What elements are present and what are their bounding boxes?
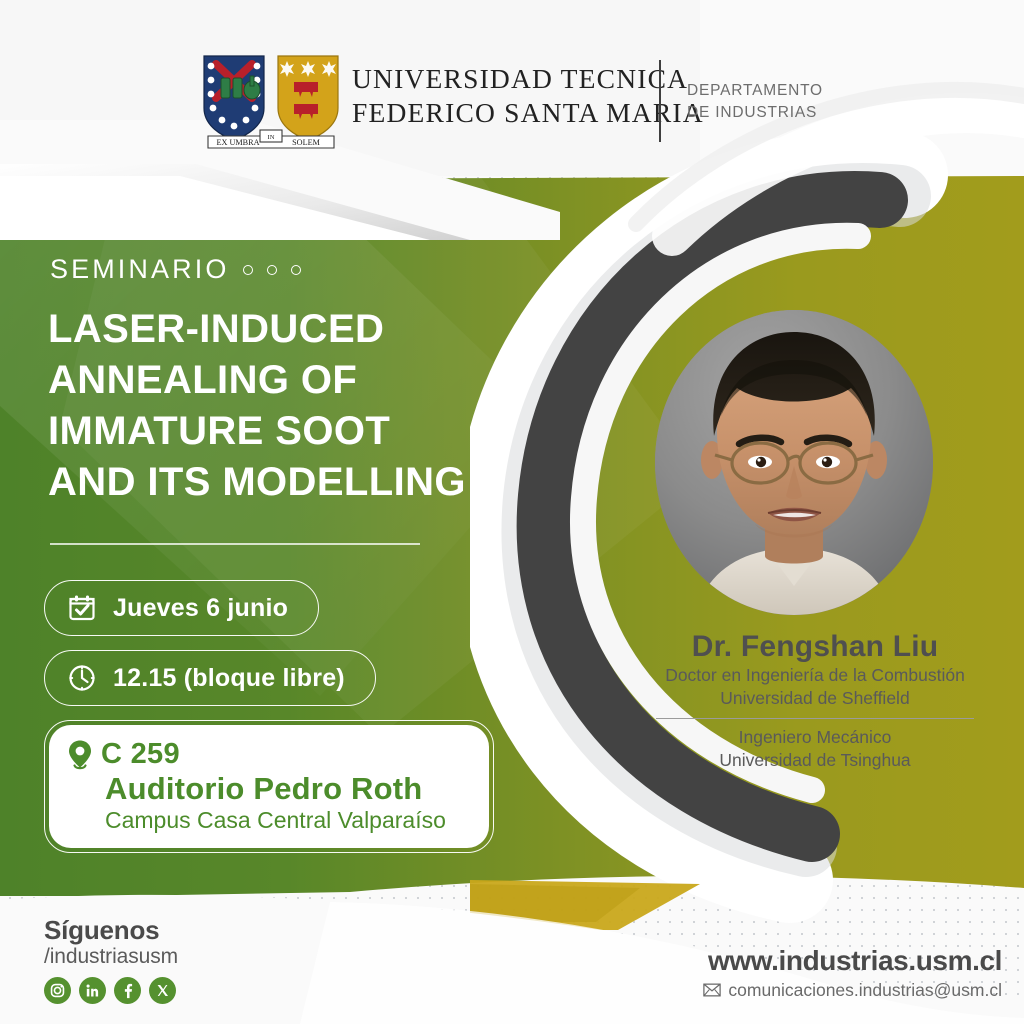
event-date-pill: Jueves 6 junio bbox=[44, 580, 319, 636]
social-handle: /industriasusm bbox=[44, 944, 178, 970]
email-address: comunicaciones.industrias@usm.cl bbox=[728, 978, 1002, 1002]
follow-us-title: Síguenos bbox=[44, 916, 178, 944]
instagram-icon[interactable] bbox=[44, 977, 71, 1004]
speaker-divider bbox=[656, 718, 974, 719]
usm-coat-of-arms-icon: EX UMBRA IN SOLEM bbox=[198, 52, 344, 150]
event-room-number: C 259 bbox=[101, 739, 180, 770]
seminar-kicker: SEMINARIO bbox=[50, 254, 301, 285]
university-name-line2: FEDERICO SANTA MARIA bbox=[352, 96, 704, 130]
header-divider bbox=[659, 60, 661, 142]
event-date-text: Jueves 6 junio bbox=[113, 594, 288, 623]
university-name-line1: UNIVERSIDAD TECNICA bbox=[352, 62, 704, 96]
seminar-title-line2: ANNEALING OF bbox=[48, 355, 518, 406]
website-url[interactable]: www.industrias.usm.cl bbox=[703, 944, 1002, 978]
department-line2: DE INDUSTRIAS bbox=[687, 102, 823, 124]
speaker-degree2-line2: Universidad de Tsinghua bbox=[620, 749, 1010, 772]
seminar-poster: EX UMBRA IN SOLEM UNIVERSIDAD TECNICA FE… bbox=[0, 0, 1024, 1024]
seminar-title-line4: AND ITS MODELLING bbox=[48, 457, 518, 508]
speaker-degree2-line1: Ingeniero Mecánico bbox=[620, 726, 1010, 749]
event-time-pill: 12.15 (bloque libre) bbox=[44, 650, 376, 706]
event-location-room-row: C 259 bbox=[67, 739, 471, 771]
event-location-card: C 259 Auditorio Pedro Roth Campus Casa C… bbox=[49, 725, 489, 848]
linkedin-icon[interactable] bbox=[79, 977, 106, 1004]
svg-text:EX UMBRA: EX UMBRA bbox=[217, 138, 260, 147]
seminar-title-line3: IMMATURE SOOT bbox=[48, 406, 518, 457]
kicker-dot-1-icon bbox=[243, 265, 253, 275]
event-campus-name: Campus Casa Central Valparaíso bbox=[105, 806, 471, 834]
portrait-illustration bbox=[655, 310, 933, 615]
speaker-portrait bbox=[655, 310, 933, 615]
speaker-info: Dr. Fengshan Liu Doctor en Ingeniería de… bbox=[620, 630, 1010, 772]
map-pin-icon bbox=[67, 739, 93, 771]
clock-icon bbox=[67, 663, 97, 693]
event-time-text: 12.15 (bloque libre) bbox=[113, 664, 345, 693]
website-block: www.industrias.usm.cl comunicaciones.ind… bbox=[703, 944, 1002, 1002]
event-location-pill: C 259 Auditorio Pedro Roth Campus Casa C… bbox=[44, 720, 494, 853]
kicker-dot-2-icon bbox=[267, 265, 277, 275]
event-venue-name: Auditorio Pedro Roth bbox=[105, 771, 471, 806]
svg-text:IN: IN bbox=[268, 134, 275, 141]
seminar-kicker-label: SEMINARIO bbox=[50, 254, 229, 285]
envelope-icon bbox=[703, 983, 721, 997]
poster-header: EX UMBRA IN SOLEM UNIVERSIDAD TECNICA FE… bbox=[0, 0, 1024, 176]
facebook-icon[interactable] bbox=[114, 977, 141, 1004]
event-content: SEMINARIO LASER-INDUCED ANNEALING OF IMM… bbox=[0, 176, 560, 896]
speaker-degree1-line1: Doctor en Ingeniería de la Combustión bbox=[620, 664, 1010, 687]
kicker-dot-3-icon bbox=[291, 265, 301, 275]
department-name: DEPARTAMENTO DE INDUSTRIAS bbox=[687, 80, 823, 124]
x-twitter-icon[interactable] bbox=[149, 977, 176, 1004]
title-divider bbox=[50, 543, 420, 545]
calendar-check-icon bbox=[67, 593, 97, 623]
speaker-degree1-line2: Universidad de Sheffield bbox=[620, 687, 1010, 710]
speaker-name: Dr. Fengshan Liu bbox=[620, 630, 1010, 664]
seminar-title: LASER-INDUCED ANNEALING OF IMMATURE SOOT… bbox=[48, 304, 518, 508]
seminar-title-line1: LASER-INDUCED bbox=[48, 304, 518, 355]
social-icons-row bbox=[44, 977, 178, 1004]
university-name: UNIVERSIDAD TECNICA FEDERICO SANTA MARIA bbox=[352, 62, 704, 130]
email-row[interactable]: comunicaciones.industrias@usm.cl bbox=[703, 978, 1002, 1002]
department-line1: DEPARTAMENTO bbox=[687, 80, 823, 102]
follow-us-block: Síguenos /industriasusm bbox=[44, 916, 178, 1004]
svg-text:SOLEM: SOLEM bbox=[292, 138, 320, 147]
